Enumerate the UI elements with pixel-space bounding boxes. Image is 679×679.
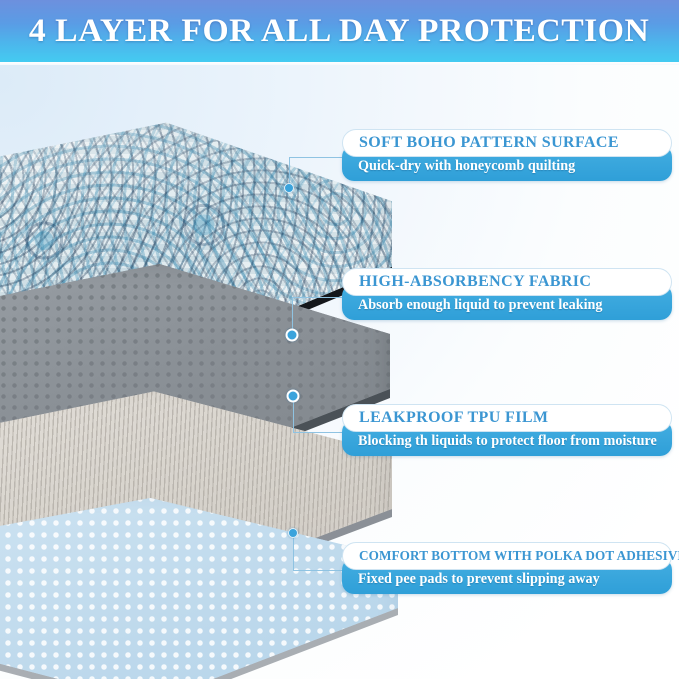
callout-leakproof-tpu-film[interactable]: LEAKPROOF TPU FILM Blocking th liquids t… [342,404,672,456]
callout-1-title: SOFT BOHO PATTERN SURFACE [359,134,619,152]
layer4-surface-texture [0,493,398,679]
infographic-page: 4 LAYER FOR ALL DAY PROTECTION [0,0,679,679]
callout-soft-boho-pattern-surface[interactable]: SOFT BOHO PATTERN SURFACE Quick-dry with… [342,129,672,181]
callout-2-title: HIGH-ABSORBENCY FABRIC [359,273,591,291]
page-title: 4 LAYER FOR ALL DAY PROTECTION [29,13,649,50]
callout-2-title-box: HIGH-ABSORBENCY FABRIC [342,268,672,296]
callout-high-absorbency-fabric[interactable]: HIGH-ABSORBENCY FABRIC Absorb enough liq… [342,268,672,320]
connector-4-vertical [293,533,294,570]
callout-1-subtitle: Quick-dry with honeycomb quilting [358,158,575,175]
connector-dot-3 [287,390,300,403]
connector-dot-4 [288,528,298,538]
callout-3-title-box: LEAKPROOF TPU FILM [342,404,672,432]
callout-4-subtitle: Fixed pee pads to prevent slipping away [358,571,600,588]
callout-1-title-box: SOFT BOHO PATTERN SURFACE [342,129,672,157]
layer-comfort-bottom [0,500,398,679]
callout-2-subtitle: Absorb enough liquid to prevent leaking [358,297,603,314]
callout-4-title-box: COMFORT BOTTOM WITH POLKA DOT ADHESIVE [342,542,672,570]
callout-3-subtitle: Blocking th liquids to protect floor fro… [358,433,657,450]
connector-dot-2 [286,329,299,342]
callout-3-title: LEAKPROOF TPU FILM [359,409,548,427]
connector-dot-1 [284,183,294,193]
header-banner: 4 LAYER FOR ALL DAY PROTECTION [0,0,679,62]
header-underline [0,62,679,65]
callout-4-title: COMFORT BOTTOM WITH POLKA DOT ADHESIVE [359,548,679,564]
callout-comfort-bottom[interactable]: COMFORT BOTTOM WITH POLKA DOT ADHESIVE F… [342,542,672,594]
